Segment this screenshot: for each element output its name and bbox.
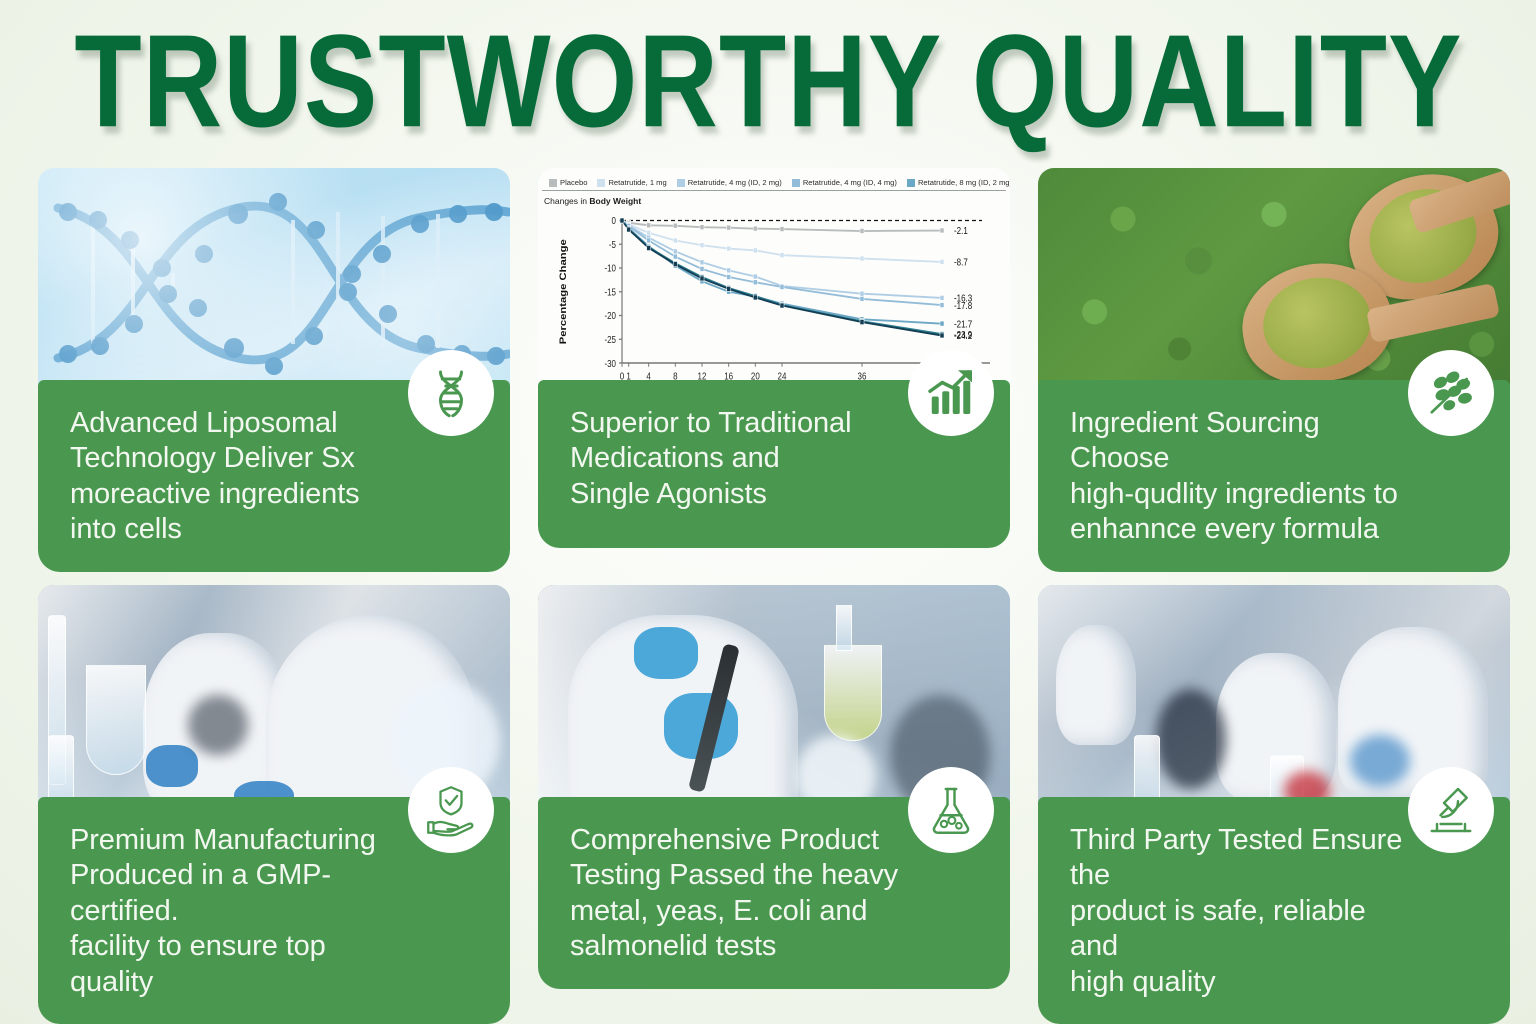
feature-card-advanced-liposomal-technology[interactable]: Advanced Liposomal Technology Deliver Sx… xyxy=(38,168,510,560)
chart-title-text: Body Weight xyxy=(589,196,641,206)
flask-icon-glyph xyxy=(923,782,979,838)
legend-item: Retatrutide, 8 mg (ID, 2 mg) xyxy=(902,178,1010,187)
microscope-icon-glyph xyxy=(1423,782,1479,838)
card-text: Premium Manufacturing Produced in a GMP-… xyxy=(70,823,414,1000)
legend-label: Retatrutide, 4 mg (ID, 4 mg) xyxy=(803,178,897,187)
svg-text:-20: -20 xyxy=(604,311,616,322)
svg-text:-10: -10 xyxy=(604,263,616,274)
card-text: Third Party Tested Ensure the product is… xyxy=(1070,823,1414,1000)
svg-text:-8.7: -8.7 xyxy=(954,257,968,268)
feature-card-third-party-tested[interactable]: Third Party Tested Ensure the product is… xyxy=(1038,585,1510,977)
svg-text:Percentage Change: Percentage Change xyxy=(559,239,569,344)
legend-item: Placebo xyxy=(544,178,592,187)
leaf-branch-icon xyxy=(1408,350,1494,436)
legend-label: Retatrutide, 8 mg (ID, 2 mg) xyxy=(918,178,1010,187)
legend-item: Retatrutide, 4 mg (ID, 2 mg) xyxy=(672,178,787,187)
svg-text:-24.2: -24.2 xyxy=(954,331,972,342)
svg-text:-21.7: -21.7 xyxy=(954,319,972,330)
dna-icon-glyph xyxy=(423,365,479,421)
svg-text:-17.8: -17.8 xyxy=(954,300,972,311)
svg-text:-25: -25 xyxy=(604,335,616,346)
legend-label: Retatrutide, 1 mg xyxy=(608,178,666,187)
page-header: TRUSTWORTHY QUALITY xyxy=(0,0,1536,150)
legend-item: Retatrutide, 1 mg xyxy=(592,178,671,187)
svg-text:-30: -30 xyxy=(604,358,616,369)
legend-swatch xyxy=(792,179,800,187)
legend-swatch xyxy=(677,179,685,187)
feature-card-comprehensive-product-testing[interactable]: Comprehensive Product Testing Passed the… xyxy=(538,585,1010,977)
svg-text:-15: -15 xyxy=(604,287,616,298)
chart-title: Changes in Body Weight xyxy=(542,191,1006,208)
legend-item: Retatrutide, 4 mg (ID, 4 mg) xyxy=(787,178,902,187)
certified-hand-icon-glyph xyxy=(423,782,479,838)
svg-text:0: 0 xyxy=(612,216,616,227)
feature-card-premium-manufacturing[interactable]: Premium Manufacturing Produced in a GMP-… xyxy=(38,585,510,977)
legend-swatch xyxy=(549,179,557,187)
flask-icon xyxy=(908,767,994,853)
dna-icon xyxy=(408,350,494,436)
legend-label: Placebo xyxy=(560,178,587,187)
card-text: Ingredient Sourcing Choose high-qudlity … xyxy=(1070,406,1414,548)
chart-legend: Placebo Retatrutide, 1 mg Retatrutide, 4… xyxy=(542,174,1006,191)
feature-card-grid: Advanced Liposomal Technology Deliver Sx… xyxy=(38,168,1510,977)
microscope-icon xyxy=(1408,767,1494,853)
leaf-branch-icon-glyph xyxy=(1423,365,1479,421)
growth-chart-icon-glyph xyxy=(923,365,979,421)
certified-hand-icon xyxy=(408,767,494,853)
legend-swatch xyxy=(597,179,605,187)
legend-swatch xyxy=(907,179,915,187)
page-title: TRUSTWORTHY QUALITY xyxy=(74,14,1462,148)
card-text: Superior to Traditional Medications and … xyxy=(570,406,851,512)
legend-label: Retatrutide, 4 mg (ID, 2 mg) xyxy=(688,178,782,187)
feature-card-superior-to-traditional-medications[interactable]: Placebo Retatrutide, 1 mg Retatrutide, 4… xyxy=(538,168,1010,560)
card-text: Advanced Liposomal Technology Deliver Sx… xyxy=(70,406,360,548)
feature-card-ingredient-sourcing[interactable]: Ingredient Sourcing Choose high-qudlity … xyxy=(1038,168,1510,560)
svg-text:-5: -5 xyxy=(609,240,616,251)
svg-text:-2.1: -2.1 xyxy=(954,226,968,237)
card-text: Comprehensive Product Testing Passed the… xyxy=(570,823,898,965)
growth-chart-icon xyxy=(908,350,994,436)
